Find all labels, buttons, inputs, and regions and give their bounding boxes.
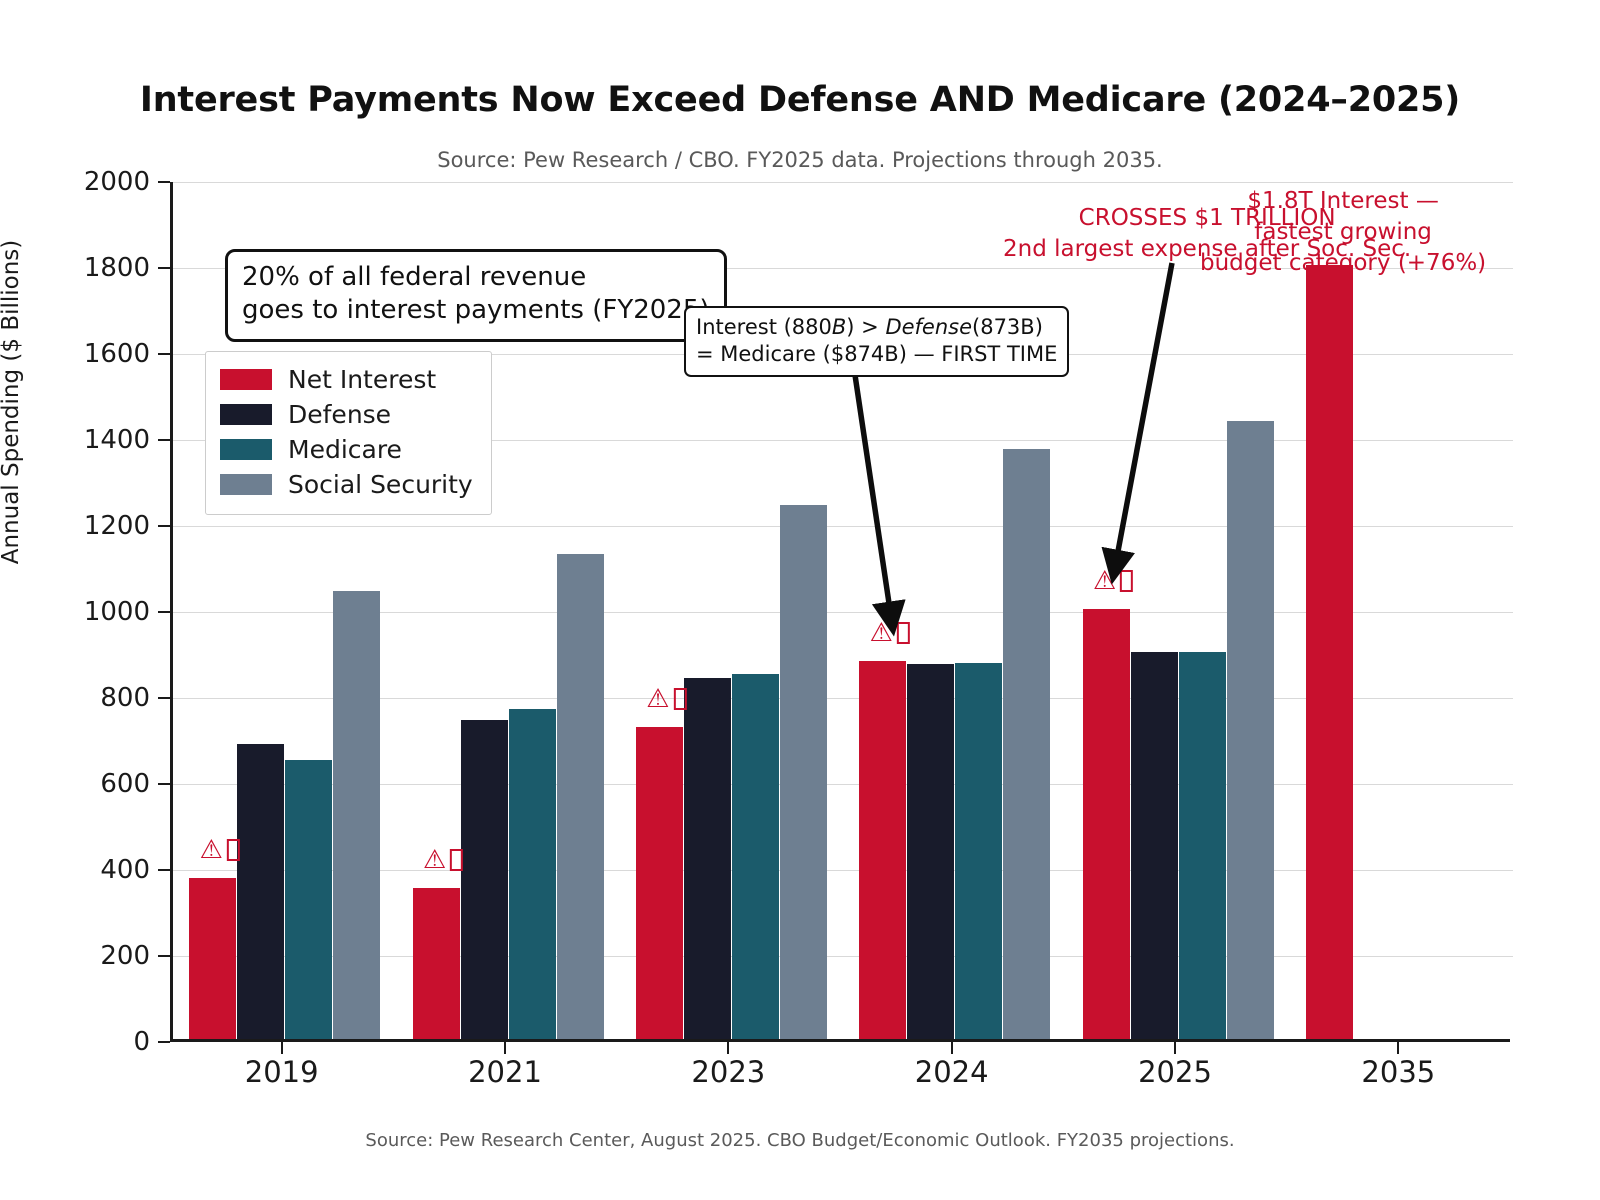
x-axis-tick-label-2035: 2035 <box>1298 1055 1498 1089</box>
y-axis-tick-label: 800 <box>60 683 150 713</box>
chart-footer-source: Source: Pew Research Center, August 2025… <box>0 1130 1600 1151</box>
y-axis-tick-label: 2000 <box>60 167 150 197</box>
bar-defense-2024[interactable] <box>907 664 954 1039</box>
y-axis-tick-label: 1000 <box>60 597 150 627</box>
chart-legend[interactable]: Net InterestDefenseMedicareSocial Securi… <box>205 351 492 515</box>
y-axis-tick <box>158 955 170 957</box>
annotation-fastest-growing-line2: fastest growing <box>1200 217 1486 248</box>
warning-marker-2019: ⚠ <box>200 837 240 863</box>
y-axis-tick <box>158 697 170 699</box>
y-axis-tick-label: 600 <box>60 769 150 799</box>
y-axis-tick <box>158 783 170 785</box>
x-axis-tick <box>951 1042 953 1054</box>
legend-swatch-social-security <box>220 474 272 495</box>
bar-social-security-2019[interactable] <box>333 591 380 1039</box>
missing-glyph-box <box>1120 570 1133 592</box>
warning-triangle-icon: ⚠ <box>870 618 893 648</box>
bar-net-interest-2023[interactable] <box>636 727 683 1039</box>
missing-glyph-box <box>450 849 463 871</box>
crossover-italic-b: B <box>832 315 846 339</box>
x-axis-tick-label-2021: 2021 <box>405 1055 605 1089</box>
x-axis-tick <box>504 1042 506 1054</box>
x-axis-tick <box>727 1042 729 1054</box>
y-axis-tick-label: 1600 <box>60 339 150 369</box>
missing-glyph-box <box>897 622 910 644</box>
bar-defense-2023[interactable] <box>684 678 731 1039</box>
warning-triangle-icon: ⚠ <box>1093 566 1116 596</box>
legend-item-social-security[interactable]: Social Security <box>220 467 473 502</box>
annotation-fastest-growing-line3: budget category (+76%) <box>1200 248 1486 279</box>
x-axis-tick-label-2023: 2023 <box>628 1055 828 1089</box>
missing-glyph-box <box>227 839 240 861</box>
legend-item-net-interest[interactable]: Net Interest <box>220 362 473 397</box>
y-axis-tick-label: 1400 <box>60 425 150 455</box>
bar-net-interest-2025[interactable] <box>1083 609 1130 1039</box>
legend-label: Net Interest <box>288 365 436 394</box>
x-axis-tick <box>281 1042 283 1054</box>
bar-social-security-2021[interactable] <box>557 554 604 1039</box>
y-axis-tick-label: 200 <box>60 941 150 971</box>
chart-figure: Interest Payments Now Exceed Defense AND… <box>0 0 1600 1200</box>
bar-social-security-2025[interactable] <box>1227 421 1274 1039</box>
y-axis-tick <box>158 267 170 269</box>
bar-social-security-2023[interactable] <box>780 505 827 1039</box>
x-axis-tick-label-2024: 2024 <box>852 1055 1052 1089</box>
bar-defense-2021[interactable] <box>461 720 508 1039</box>
y-axis-tick <box>158 525 170 527</box>
annotation-fastest-growing: $1.8T Interest — fastest growing budget … <box>1200 186 1486 279</box>
warning-triangle-icon: ⚠ <box>200 835 223 865</box>
legend-item-defense[interactable]: Defense <box>220 397 473 432</box>
bar-social-security-2024[interactable] <box>1003 449 1050 1039</box>
y-axis-tick <box>158 869 170 871</box>
callout-interest-crossover-line1: Interest (880B) > Defense(873B) <box>696 314 1057 341</box>
crossover-italic-defense: Defense <box>885 315 972 339</box>
legend-swatch-net-interest <box>220 369 272 390</box>
bar-defense-2025[interactable] <box>1131 652 1178 1039</box>
y-axis-tick <box>158 439 170 441</box>
warning-marker-2023: ⚠ <box>646 686 686 712</box>
x-axis-tick <box>1174 1042 1176 1054</box>
annotation-fastest-growing-line1: $1.8T Interest — <box>1200 186 1486 217</box>
x-axis-tick <box>1397 1042 1399 1054</box>
y-axis-tick <box>158 611 170 613</box>
chart-subtitle: Source: Pew Research / CBO. FY2025 data.… <box>0 148 1600 172</box>
y-axis-tick-label: 1200 <box>60 511 150 541</box>
legend-swatch-medicare <box>220 439 272 460</box>
bar-net-interest-2019[interactable] <box>189 878 236 1039</box>
warning-marker-2024: ⚠ <box>870 620 910 646</box>
crossover-post: (873B) <box>972 315 1043 339</box>
warning-triangle-icon: ⚠ <box>423 845 446 875</box>
legend-swatch-defense <box>220 404 272 425</box>
legend-item-medicare[interactable]: Medicare <box>220 432 473 467</box>
y-axis-tick <box>158 1041 170 1043</box>
callout-federal-revenue: 20% of all federal revenue goes to inter… <box>225 249 727 342</box>
y-axis-tick <box>158 181 170 183</box>
legend-label: Social Security <box>288 470 473 499</box>
warning-marker-2021: ⚠ <box>423 847 463 873</box>
warning-triangle-icon: ⚠ <box>646 684 669 714</box>
warning-marker-2025: ⚠ <box>1093 568 1133 594</box>
x-axis-tick-label-2019: 2019 <box>182 1055 382 1089</box>
callout-interest-crossover: Interest (880B) > Defense(873B) = Medica… <box>684 306 1069 377</box>
bar-medicare-2025[interactable] <box>1179 652 1226 1039</box>
crossover-pre: Interest (880 <box>696 315 832 339</box>
crossover-mid: ) > <box>846 315 885 339</box>
callout-interest-crossover-line2: = Medicare ($874B) — FIRST TIME <box>696 341 1057 368</box>
bar-net-interest-2035[interactable] <box>1306 265 1353 1039</box>
bar-medicare-2021[interactable] <box>509 709 556 1039</box>
bar-medicare-2024[interactable] <box>955 663 1002 1039</box>
bar-medicare-2019[interactable] <box>285 760 332 1040</box>
y-axis-tick-label: 400 <box>60 855 150 885</box>
bar-medicare-2023[interactable] <box>732 674 779 1039</box>
y-axis-tick-label: 1800 <box>60 253 150 283</box>
bar-net-interest-2024[interactable] <box>859 661 906 1039</box>
y-axis-title: Annual Spending ($ Billions) <box>0 192 24 612</box>
gridline <box>173 182 1513 183</box>
bar-defense-2019[interactable] <box>237 744 284 1039</box>
x-axis-tick-label-2025: 2025 <box>1075 1055 1275 1089</box>
callout-federal-revenue-line1: 20% of all federal revenue <box>242 261 710 294</box>
legend-label: Defense <box>288 400 391 429</box>
callout-federal-revenue-line2: goes to interest payments (FY2025) <box>242 294 710 327</box>
y-axis-tick <box>158 353 170 355</box>
missing-glyph-box <box>673 688 686 710</box>
bar-net-interest-2021[interactable] <box>413 888 460 1039</box>
y-axis-tick-label: 0 <box>60 1027 150 1057</box>
chart-title: Interest Payments Now Exceed Defense AND… <box>0 80 1600 120</box>
legend-label: Medicare <box>288 435 402 464</box>
